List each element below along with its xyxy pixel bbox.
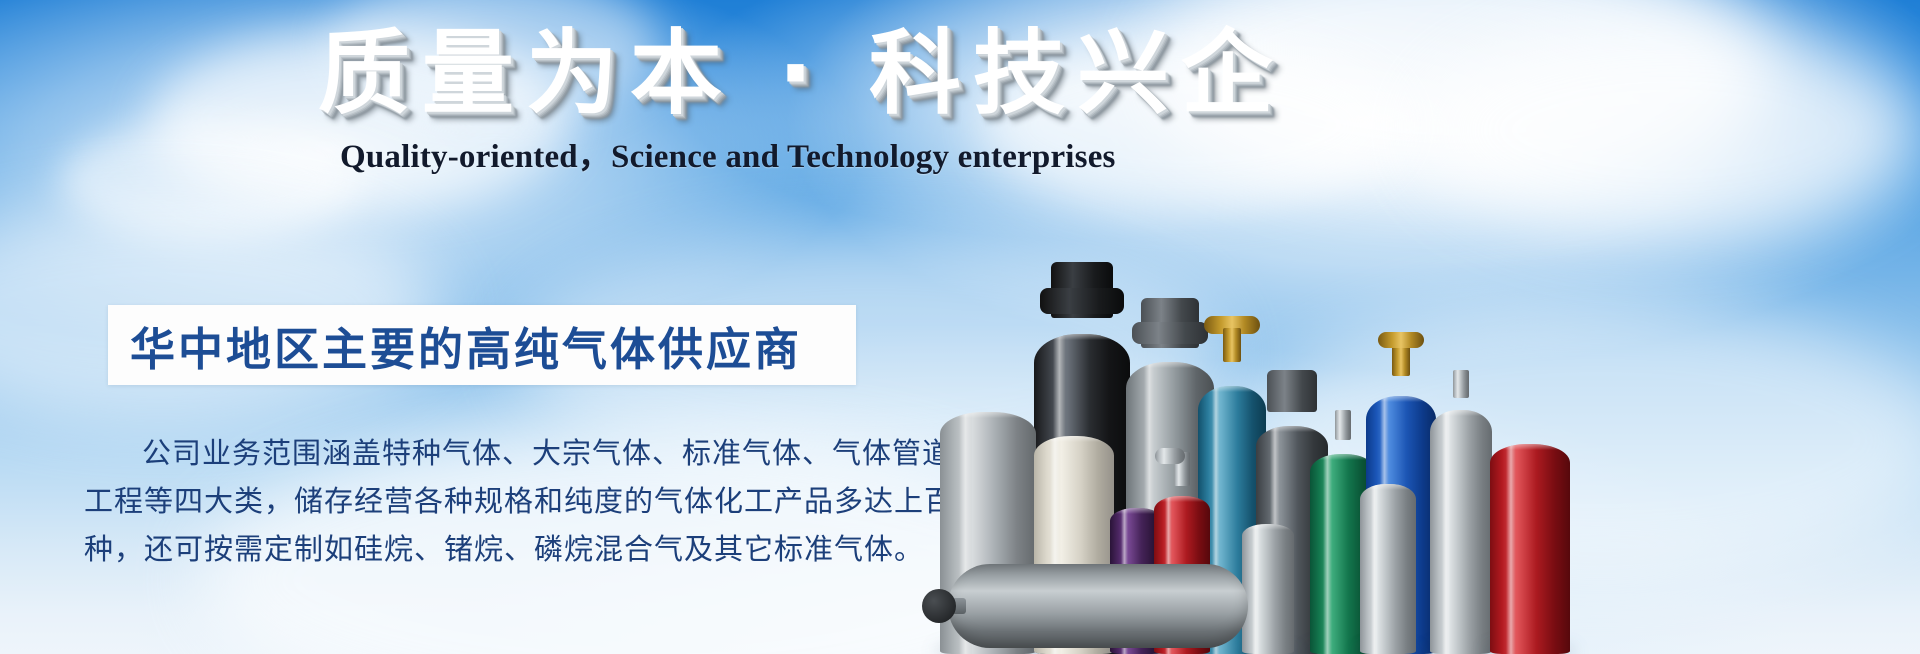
red-tall-cylinder (1490, 444, 1570, 654)
cylinder-valve (1335, 410, 1351, 440)
cylinder-valve (1132, 322, 1208, 344)
paragraph-line: 种，还可按需定制如硅烷、锗烷、磷烷混合气及其它标准气体。 (84, 526, 874, 574)
gas-cylinder-group-image (930, 150, 1920, 654)
aluminum-cylinder (1242, 524, 1294, 654)
cylinder-body (1360, 484, 1416, 654)
cylinder-body (1490, 444, 1570, 654)
cloud-shape (60, 120, 360, 240)
cylinder-cap (1267, 370, 1317, 412)
cylinder-body (1430, 410, 1492, 654)
valve-handwheel-icon (1155, 448, 1185, 464)
paragraph-line: 工程等四大类，储存经营各种规格和纯度的气体化工产品多达上百 (84, 478, 874, 526)
highlight-box-text: 华中地区主要的高纯气体供应商 (108, 313, 802, 378)
aluminum-cylinder (1430, 394, 1492, 654)
description-paragraph: 公司业务范围涵盖特种气体、大宗气体、标准气体、气体管道 工程等四大类，储存经营各… (84, 430, 874, 574)
aluminum-cylinder (1360, 484, 1416, 654)
cylinder-valve (1040, 288, 1124, 314)
cylinder-valve (1453, 370, 1469, 398)
highlight-box: 华中地区主要的高纯气体供应商 (108, 305, 856, 385)
cylinder-valve (1223, 328, 1241, 362)
valve-handwheel-icon (1378, 332, 1424, 348)
lying-gray-cylinder (948, 564, 1248, 648)
cylinder-body (1242, 524, 1294, 654)
cylinder-cap (922, 589, 956, 623)
paragraph-line: 公司业务范围涵盖特种气体、大宗气体、标准气体、气体管道 (84, 430, 874, 478)
promotional-banner: 质量为本 · 科技兴企 Quality-oriented，Science and… (0, 0, 1920, 654)
page-title: 质量为本 · 科技兴企 (318, 22, 1278, 125)
